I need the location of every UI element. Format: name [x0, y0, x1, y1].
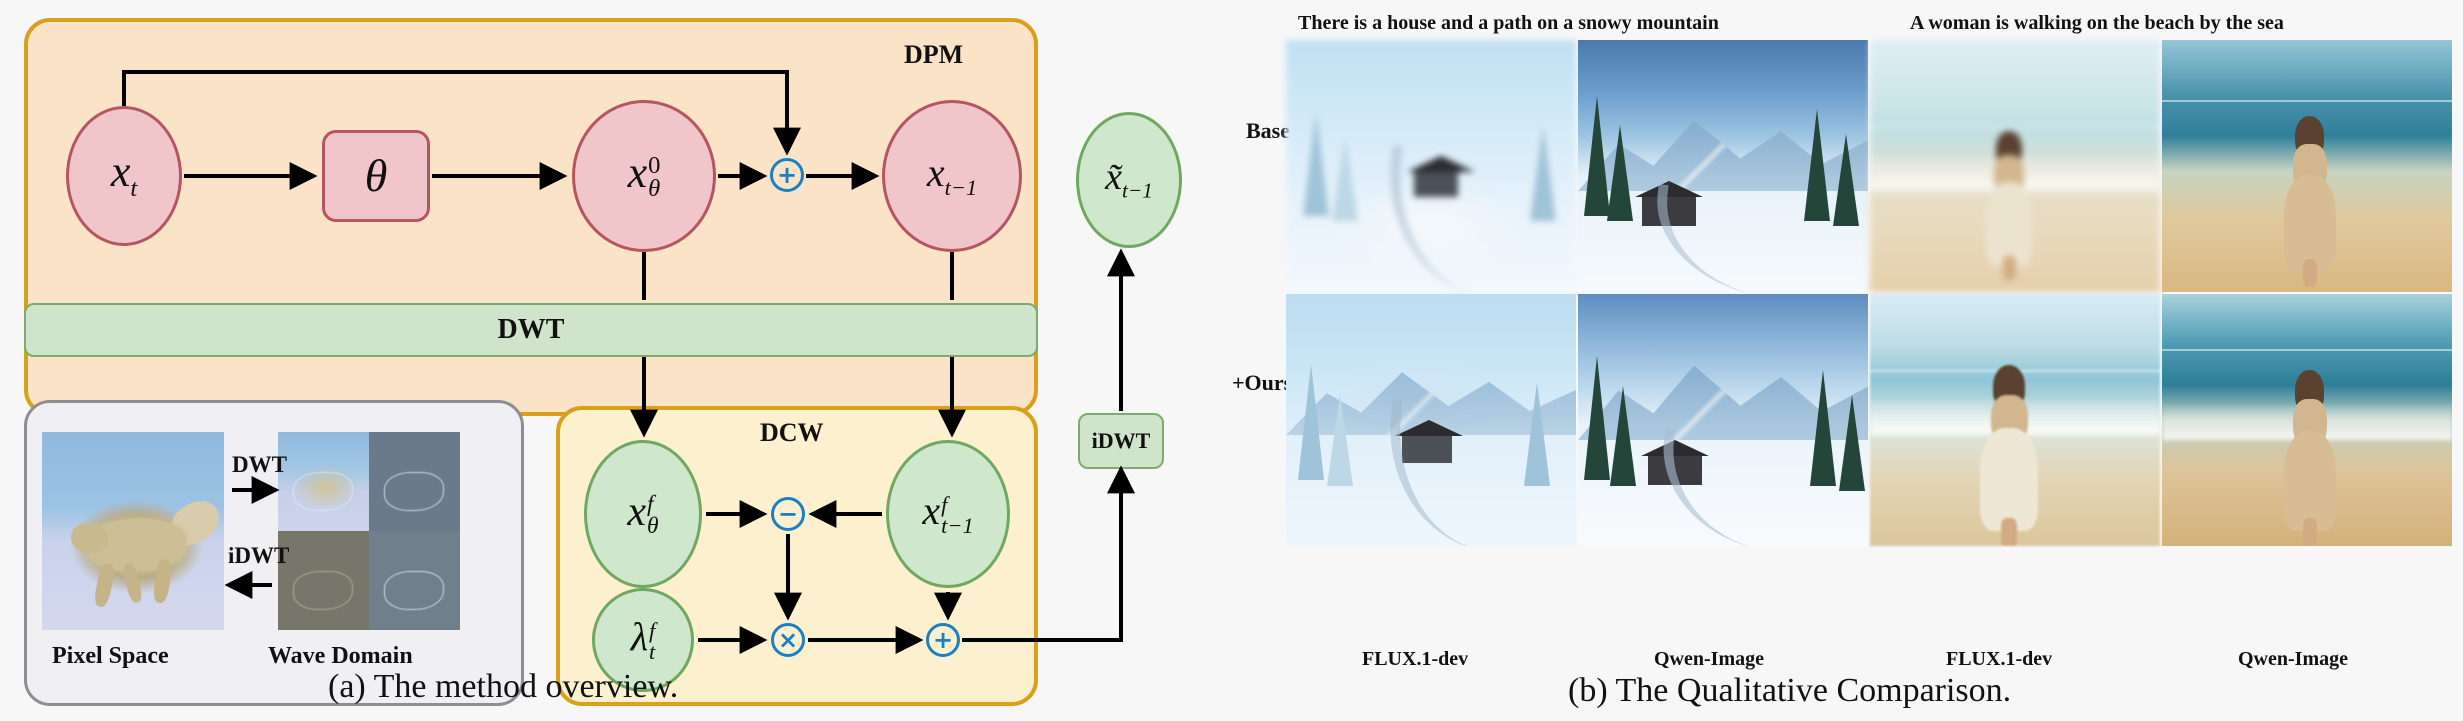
node-x-t-minus-1-f: xft−1 [886, 440, 1010, 588]
woman-dress [2284, 175, 2336, 272]
image-base-qwen-snow [1578, 40, 1868, 292]
idwt-block: iDWT [1078, 413, 1164, 469]
dcw-label: DCW [760, 418, 824, 448]
image-ours-qwen-beach [2162, 294, 2452, 546]
node-theta-label: θ [365, 153, 388, 199]
wave-subband-hh [369, 531, 460, 630]
tree-icon [1607, 125, 1633, 221]
operator-plus-top: + [770, 158, 804, 192]
wolf-leg-1 [92, 562, 115, 608]
figure-root: DWT iDWT [0, 0, 2463, 721]
node-x-tilde-t-minus-1: x̃t−1 [1076, 112, 1182, 248]
wave-subband-hl [278, 531, 369, 630]
idwt-block-label: iDWT [1092, 428, 1151, 454]
node-x-t-minus-1: xt−1 [882, 100, 1022, 252]
woman-dress [2284, 431, 2336, 531]
image-base-flux-beach [1870, 40, 2160, 292]
wave-subband-ll [278, 432, 369, 531]
woman-figure [1980, 365, 2038, 531]
woman-legs [2003, 256, 2016, 280]
woman-legs [2001, 518, 2017, 546]
dwt-bar-label: DWT [498, 314, 565, 346]
panel-a-caption: (a) The method overview. [328, 668, 678, 706]
node-theta: θ [322, 130, 430, 222]
wolf-outline-hl [293, 571, 353, 611]
horizon-line [2162, 100, 2452, 102]
node-x-t-minus-1-label: xt−1 [927, 153, 977, 199]
wolf-head [71, 523, 107, 553]
idwt-small-label: iDWT [228, 543, 289, 569]
wolf-outline-ll [293, 472, 353, 512]
wave-subband-lh [369, 432, 460, 531]
panel-b-qualitative-comparison: There is a house and a path on a snowy m… [1250, 0, 2463, 721]
node-lambda-t-f-label: λft [631, 617, 656, 662]
tree-icon [1303, 112, 1329, 216]
wolf-outline-hh [384, 571, 444, 611]
row-label-base: Base [1246, 118, 1290, 144]
tree-icon [1332, 137, 1358, 221]
node-x-tilde-label: x̃t−1 [1105, 158, 1153, 202]
pixel-space-label: Pixel Space [52, 643, 169, 670]
snow-path [1654, 428, 1798, 546]
woman-figure [1986, 131, 2032, 267]
tree-icon [1298, 364, 1324, 480]
wave-domain-image [278, 432, 460, 630]
tree-icon [1327, 394, 1353, 486]
image-base-flux-snow [1286, 40, 1576, 292]
node-x-theta-f-label: xfθ [627, 491, 658, 538]
node-x-t: xt [66, 106, 182, 246]
panel-a-method-overview: DWT iDWT [0, 0, 1250, 721]
node-x-t-minus-1-f-label: xft−1 [922, 491, 973, 536]
woman-dress [1986, 182, 2032, 266]
image-ours-flux-snow [1286, 294, 1576, 546]
column-label-2: Qwen-Image [1654, 648, 1764, 671]
tree-icon [1584, 96, 1610, 216]
snow-path [1649, 184, 1798, 292]
pixel-space-image [42, 432, 224, 630]
wolf-outline-lh [384, 472, 444, 512]
tree-icon [1610, 386, 1636, 486]
prompt-1: There is a house and a path on a snowy m… [1298, 12, 1719, 35]
panel-b-caption: (b) The Qualitative Comparison. [1568, 672, 2011, 710]
tree-icon [1524, 382, 1550, 486]
node-x-t-label: xt [111, 150, 137, 201]
woman-dress [1980, 428, 2038, 531]
woman-legs [2303, 518, 2318, 546]
woman-legs [2303, 259, 2318, 287]
dwt-bar: DWT [24, 303, 1038, 357]
tree-icon [1584, 356, 1610, 480]
dpm-label: DPM [904, 40, 963, 70]
tree-icon [1833, 134, 1859, 226]
wave-domain-label: Wave Domain [268, 643, 413, 670]
node-x-theta-f: xfθ [584, 440, 702, 588]
snow-path [1378, 145, 1514, 292]
operator-plus-bottom: + [926, 623, 960, 657]
snow-path [1378, 399, 1514, 546]
tree-icon [1804, 109, 1830, 221]
image-ours-qwen-snow [1578, 294, 1868, 546]
tree-icon [1530, 125, 1556, 221]
woman-figure [2284, 370, 2336, 531]
operator-times: × [771, 623, 805, 657]
tree-icon [1810, 370, 1836, 486]
column-label-1: FLUX.1-dev [1362, 648, 1468, 671]
row-label-ours: +Ours [1232, 370, 1292, 396]
horizon-line [1870, 126, 2160, 128]
horizon-line [2162, 349, 2452, 351]
column-label-3: FLUX.1-dev [1946, 648, 2052, 671]
image-base-qwen-beach [2162, 40, 2452, 292]
image-ours-flux-beach [1870, 294, 2160, 546]
column-label-4: Qwen-Image [2238, 648, 2348, 671]
woman-figure [2284, 116, 2336, 272]
operator-minus: − [771, 497, 805, 531]
node-x-theta-0: x0θ [572, 100, 716, 252]
prompt-2: A woman is walking on the beach by the s… [1910, 12, 2284, 35]
tree-icon [1839, 395, 1865, 491]
dwt-small-label: DWT [232, 452, 287, 478]
node-x-theta-0-label: x0θ [628, 151, 661, 200]
